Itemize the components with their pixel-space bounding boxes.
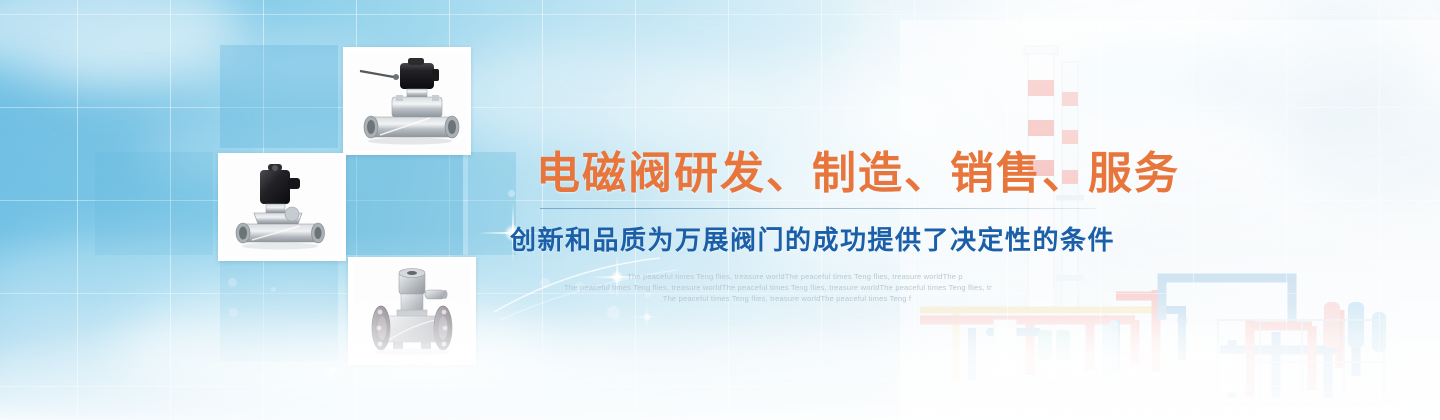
mosaic-tile	[220, 258, 338, 361]
mosaic-tile	[95, 152, 213, 255]
title-divider	[540, 208, 1096, 209]
page-subtitle: 创新和品质为万展阀门的成功提供了决定性的条件	[510, 220, 1110, 257]
page-title: 电磁阀研发、制造、销售、服务	[536, 150, 1110, 198]
paragraph-line: The peaceful times Teng flies, treasure …	[506, 282, 1050, 293]
hero-banner: 电磁阀研发、制造、销售、服务 创新和品质为万展阀门的成功提供了决定性的条件 Th…	[0, 0, 1440, 420]
hero-text-block: 电磁阀研发、制造、销售、服务 创新和品质为万展阀门的成功提供了决定性的条件 Th…	[510, 150, 1110, 304]
sparkle-icon	[630, 300, 664, 334]
product-photo-1	[343, 47, 471, 155]
hero-paragraph: The peaceful times Teng flies, treasure …	[510, 271, 1050, 304]
paragraph-line: The peaceful times Teng flies, treasure …	[540, 271, 1050, 282]
product-photo-3	[348, 257, 476, 365]
mosaic-tile	[345, 152, 463, 255]
product-mosaic	[0, 0, 520, 420]
mosaic-tile	[220, 45, 338, 148]
paragraph-line: The peaceful times Teng flies, treasure …	[524, 293, 1050, 304]
product-photo-2	[218, 153, 346, 261]
mosaic-tile	[468, 152, 516, 255]
bokeh-dot	[607, 306, 620, 319]
